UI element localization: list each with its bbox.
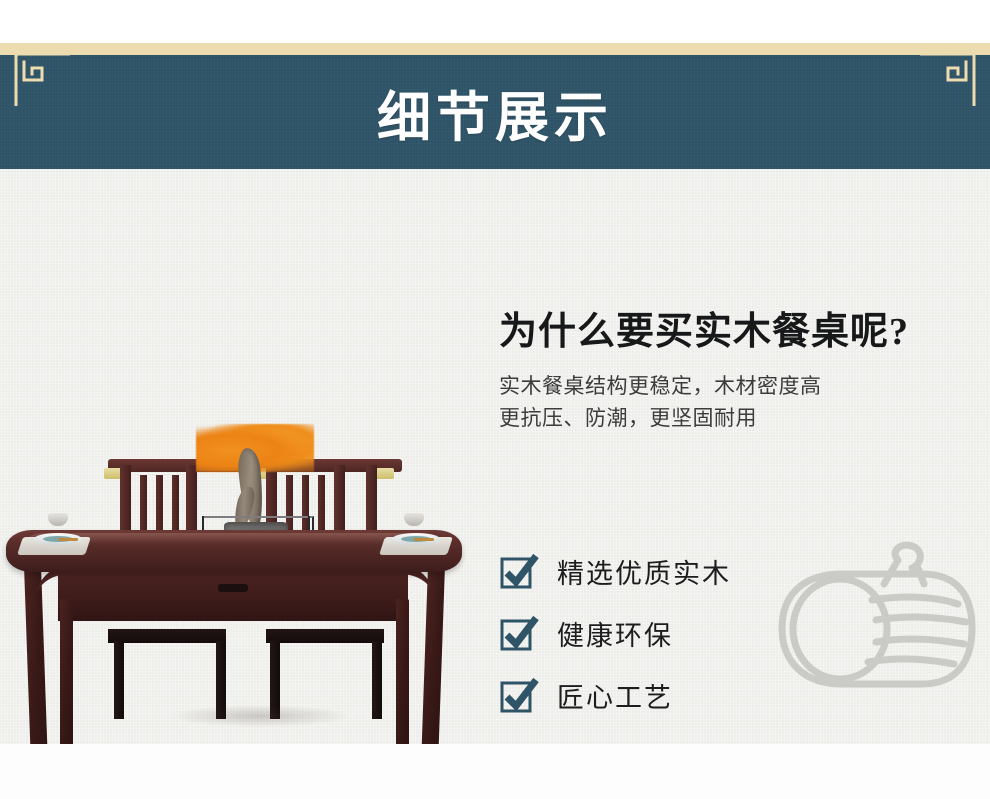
header-banner: 细节展示 (0, 43, 990, 169)
list-item-label: 健康环保 (557, 614, 673, 653)
top-white-strip (0, 0, 990, 43)
checkbox-checked-icon (499, 551, 539, 591)
bottom-white-strip (0, 744, 990, 799)
table-drawer-handle (218, 584, 248, 592)
page-title: 细节展示 (0, 55, 990, 169)
chinese-fret-corner-icon (906, 50, 976, 110)
list-item-label: 精选优质实木 (557, 552, 731, 591)
list-item: 健康环保 (499, 602, 919, 664)
table-apron (58, 565, 408, 621)
solid-wood-dining-table-photo (0, 169, 470, 729)
table-leg (60, 599, 73, 744)
list-item: 匠心工艺 (499, 664, 919, 726)
table-leg (396, 599, 409, 744)
list-item: 精选优质实木 (499, 540, 919, 602)
header-gold-band (0, 43, 990, 55)
chinese-fret-corner-icon (14, 50, 84, 110)
feature-checklist: 精选优质实木 健康环保 (499, 540, 919, 726)
checkbox-checked-icon (499, 675, 539, 715)
list-item-label: 匠心工艺 (557, 676, 673, 715)
content-area: 为什么要买实木餐桌呢? 实木餐桌结构更稳定，木材密度高 更抗压、防潮，更坚固耐用… (0, 169, 990, 744)
body-line-2: 更抗压、防潮，更坚固耐用 (499, 403, 969, 435)
detail-showcase-page: 细节展示 (0, 0, 990, 799)
checkbox-checked-icon (499, 613, 539, 653)
body-line-1: 实木餐桌结构更稳定，木材密度高 (499, 371, 969, 403)
marketing-copy: 为什么要买实木餐桌呢? 实木餐桌结构更稳定，木材密度高 更抗压、防潮，更坚固耐用… (499, 300, 969, 435)
headline: 为什么要买实木餐桌呢? (499, 300, 969, 355)
